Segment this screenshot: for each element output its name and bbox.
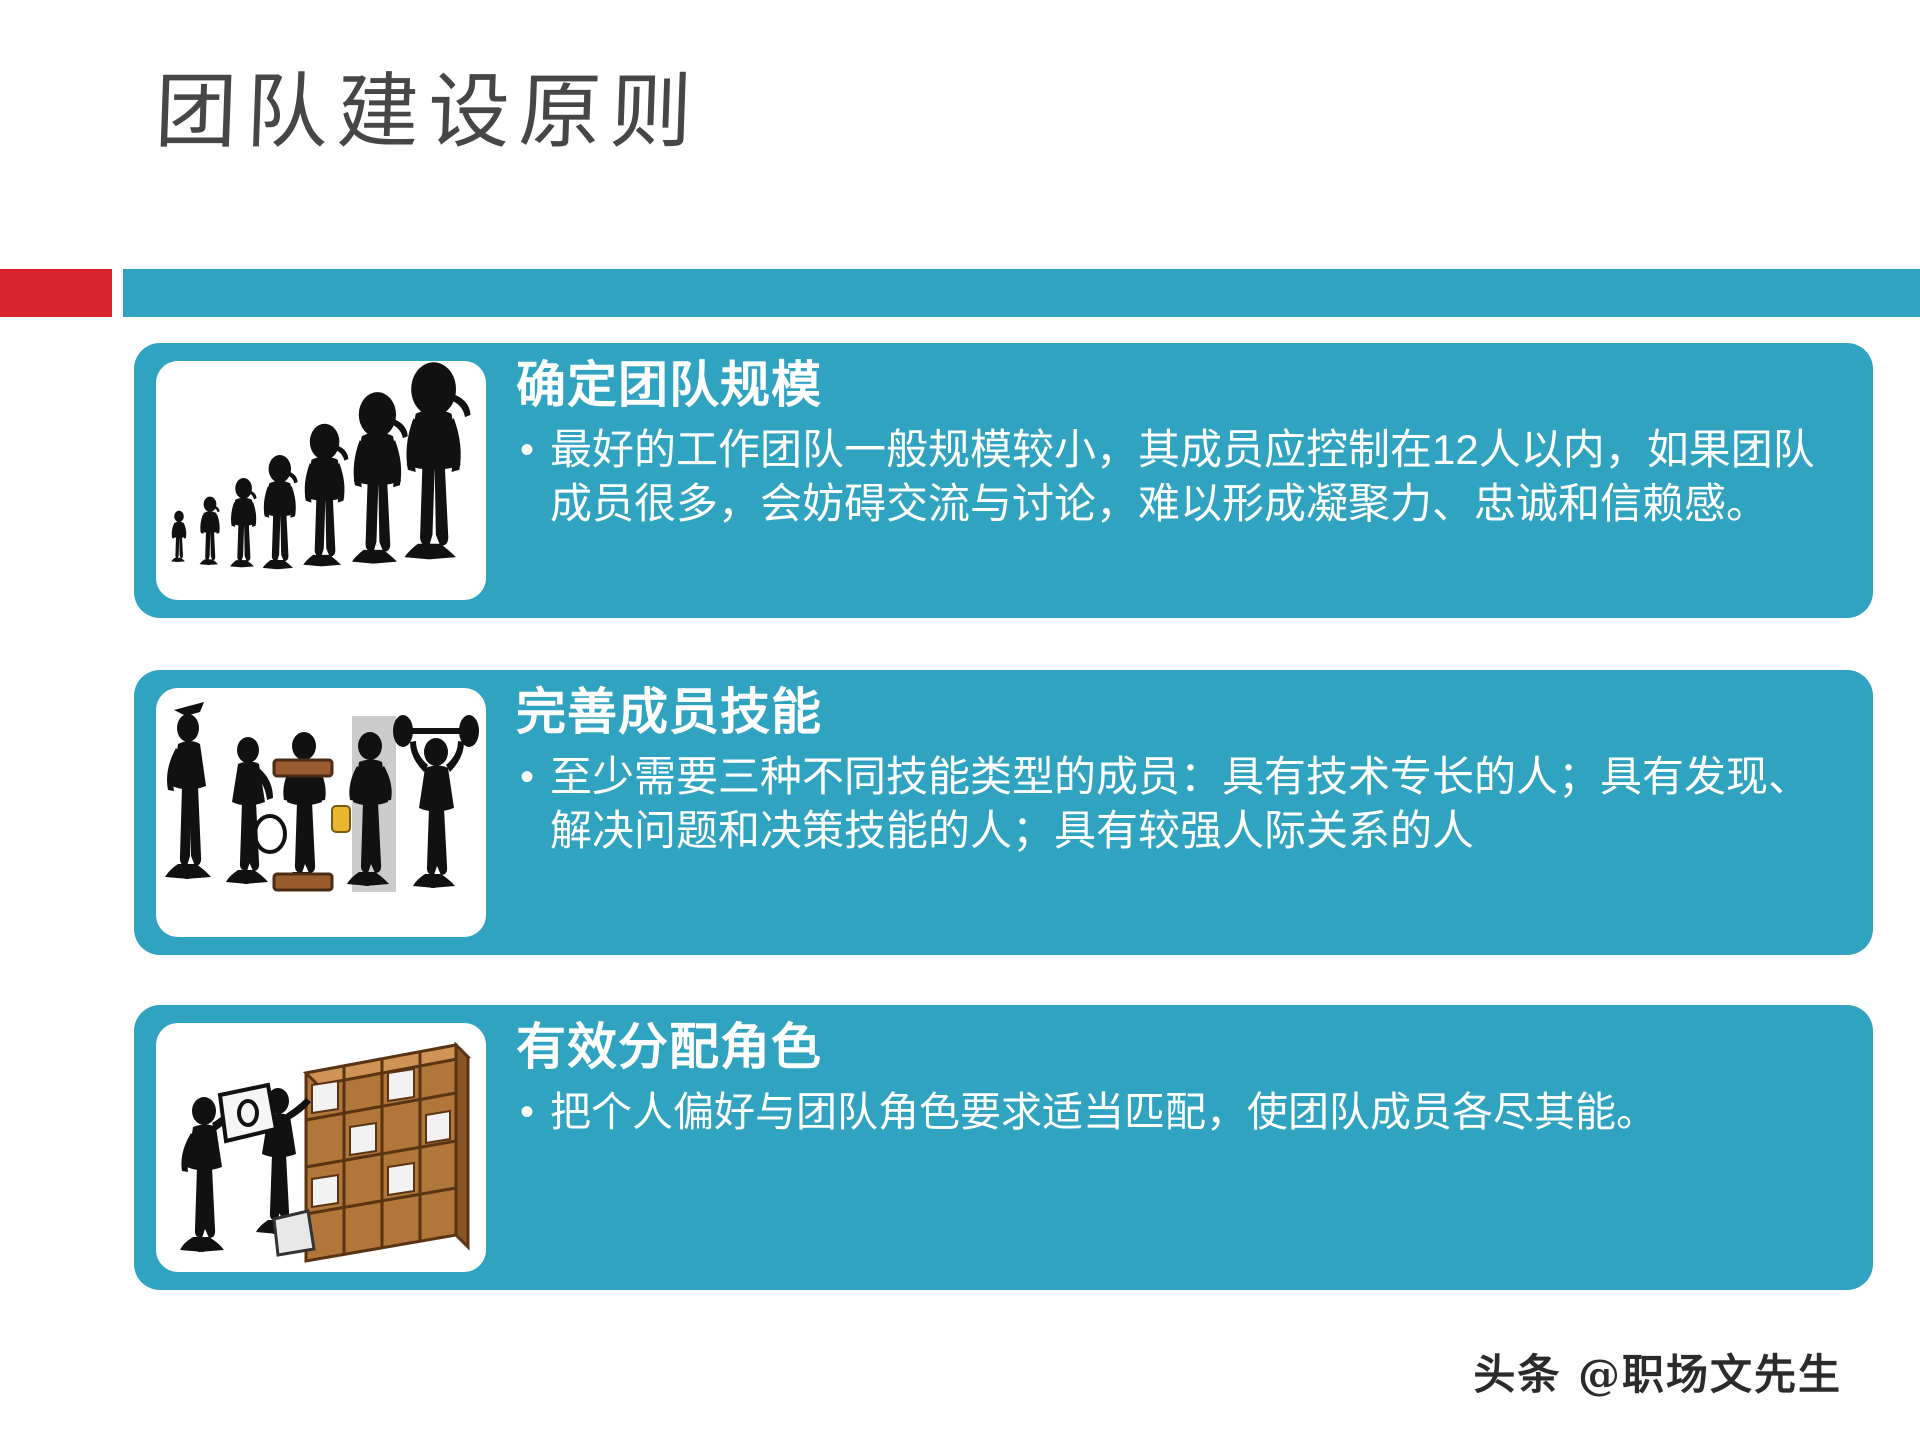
people-exercising-skills-icon xyxy=(156,688,486,937)
person-sorting-shelf-icon xyxy=(156,1023,486,1272)
principle-card-2[interactable]: 完善成员技能 • 至少需要三种不同技能类型的成员：具有技术专长的人；具有发现、解… xyxy=(134,670,1873,955)
accent-bar-red xyxy=(0,269,112,317)
people-growing-silhouettes-icon xyxy=(156,361,486,600)
principle-card-3[interactable]: 有效分配角色 • 把个人偏好与团队角色要求适当匹配，使团队成员各尽其能。 xyxy=(134,1005,1873,1290)
principle-card-1[interactable]: 确定团队规模 • 最好的工作团队一般规模较小，其成员应控制在12人以内，如果团队… xyxy=(134,343,1873,618)
card-2-bullet: • 至少需要三种不同技能类型的成员：具有技术专长的人；具有发现、解决问题和决策技… xyxy=(516,750,1839,858)
card-2-bullet-text: 至少需要三种不同技能类型的成员：具有技术专长的人；具有发现、解决问题和决策技能的… xyxy=(550,750,1839,858)
card-3-body: 有效分配角色 • 把个人偏好与团队角色要求适当匹配，使团队成员各尽其能。 xyxy=(486,1005,1873,1139)
card-2-heading: 完善成员技能 xyxy=(516,684,1839,742)
card-2-thumbnail xyxy=(156,688,486,937)
card-3-bullet-text: 把个人偏好与团队角色要求适当匹配，使团队成员各尽其能。 xyxy=(550,1085,1839,1139)
card-3-thumbnail xyxy=(156,1023,486,1272)
card-1-body: 确定团队规模 • 最好的工作团队一般规模较小，其成员应控制在12人以内，如果团队… xyxy=(486,343,1873,531)
footer-watermark: 头条 @职场文先生 xyxy=(1473,1341,1842,1402)
bullet-dot-icon: • xyxy=(516,1085,550,1139)
card-2-body: 完善成员技能 • 至少需要三种不同技能类型的成员：具有技术专长的人；具有发现、解… xyxy=(486,670,1873,858)
card-3-heading: 有效分配角色 xyxy=(516,1019,1839,1077)
bullet-dot-icon: • xyxy=(516,423,550,477)
card-1-heading: 确定团队规模 xyxy=(516,357,1839,415)
card-1-thumbnail xyxy=(156,361,486,600)
card-3-bullet: • 把个人偏好与团队角色要求适当匹配，使团队成员各尽其能。 xyxy=(516,1085,1839,1139)
card-1-bullet: • 最好的工作团队一般规模较小，其成员应控制在12人以内，如果团队成员很多，会妨… xyxy=(516,423,1839,531)
bullet-dot-icon: • xyxy=(516,750,550,804)
card-1-bullet-text: 最好的工作团队一般规模较小，其成员应控制在12人以内，如果团队成员很多，会妨碍交… xyxy=(550,423,1839,531)
accent-bar-teal xyxy=(123,269,1920,317)
page-title: 团队建设原则 xyxy=(154,72,703,154)
